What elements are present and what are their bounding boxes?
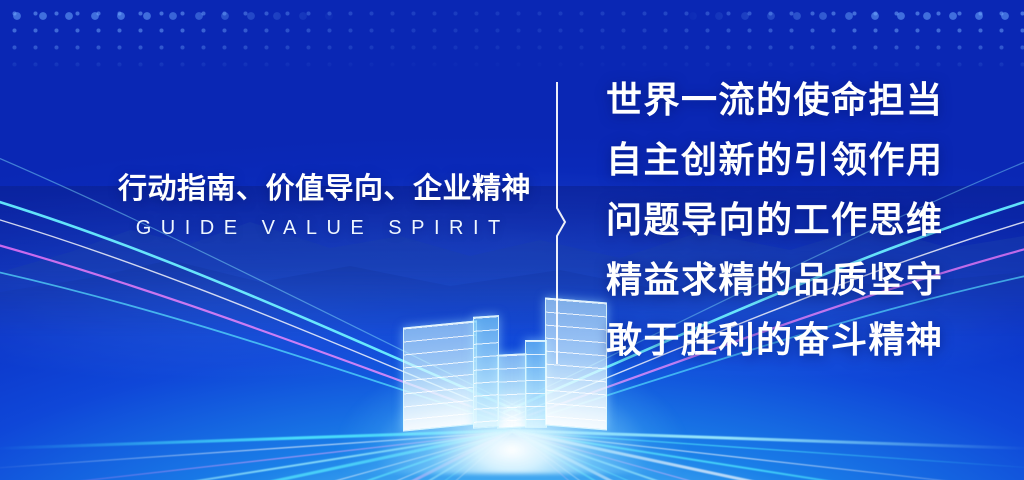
slogan-line: 自主创新的引领作用: [606, 130, 1006, 190]
slogan-line: 敢于胜利的奋斗精神: [606, 310, 1006, 370]
slogan-list: 世界一流的使命担当 自主创新的引领作用 问题导向的工作思维 精益求精的品质坚守 …: [606, 70, 1006, 370]
building: [403, 320, 477, 431]
dot-grid-pattern-top: [0, 0, 1024, 26]
slogan-line: 世界一流的使命担当: [606, 70, 1006, 130]
page-title: 行动指南、价值导向、企业精神: [118, 172, 518, 206]
building: [497, 353, 527, 429]
building: [525, 340, 547, 428]
slogan-line: 问题导向的工作思维: [606, 190, 1006, 250]
slogan-line: 精益求精的品质坚守: [606, 250, 1006, 310]
page-subtitle: GUIDE VALUE SPIRIT: [118, 217, 518, 240]
vertical-divider: [548, 82, 570, 364]
corporate-culture-banner: 行动指南、价值导向、企业精神 GUIDE VALUE SPIRIT 世界一流的使…: [0, 0, 1024, 480]
left-text-block: 行动指南、价值导向、企业精神 GUIDE VALUE SPIRIT: [118, 172, 518, 240]
chevron-right-icon: [557, 82, 565, 364]
city-skyline: [397, 293, 627, 428]
building: [473, 315, 499, 429]
